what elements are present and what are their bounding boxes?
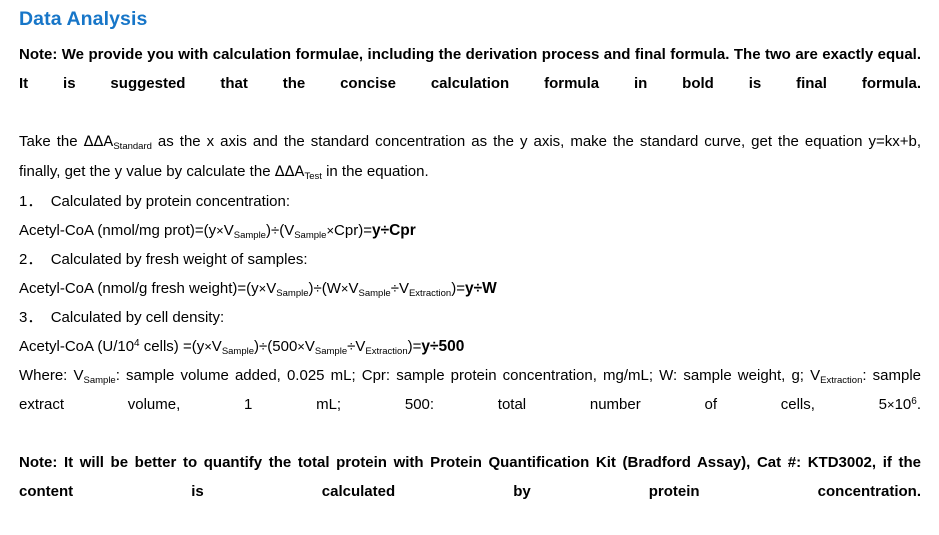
delta-test-subscript: Test	[304, 171, 321, 182]
v-extraction-subscript: Extraction	[365, 346, 407, 357]
formula-fresh-weight: Acetyl-CoA (nmol/g fresh weight)=(y×VSam…	[19, 274, 921, 303]
v-sample-symbol: V	[224, 222, 234, 239]
formula-tail: )=	[408, 338, 422, 355]
list-item-label: Calculated by protein concentration:	[51, 193, 290, 210]
formula-lead: Acetyl-CoA (U/10	[19, 338, 134, 355]
list-item: 1． Calculated by protein concentration:	[19, 187, 921, 216]
formula-lead: Acetyl-CoA (nmol/g fresh weight)=(y	[19, 280, 259, 297]
where-period: .	[917, 396, 921, 413]
cells-base: 10	[895, 396, 912, 413]
multiply-sign: ×	[887, 397, 895, 412]
delta-test-symbol: ΔΔA	[275, 164, 305, 180]
v-sample-symbol: V	[73, 367, 83, 384]
v-extraction-subscript: Extraction	[409, 288, 451, 299]
note-top-paragraph: Note: We provide you with calculation fo…	[19, 40, 921, 127]
instruction-text-part3: in the equation.	[322, 163, 429, 180]
formula-bold-result: y÷W	[465, 280, 497, 297]
document-page: Data Analysis Note: We provide you with …	[0, 0, 939, 438]
v-sample-symbol: V	[212, 338, 222, 355]
list-item: 3． Calculated by cell density:	[19, 303, 921, 332]
formula-bold-result: y÷Cpr	[372, 222, 416, 239]
v-sample-subscript: Sample	[222, 346, 254, 357]
v-sample-symbol: V	[266, 280, 276, 297]
formula-lead-2: cells) =(y	[140, 338, 205, 355]
cells-exponent: 6	[911, 396, 917, 407]
formula-protein-concentration: Acetyl-CoA (nmol/mg prot)=(y×VSample)÷(V…	[19, 216, 921, 245]
multiply-sign: ×	[216, 223, 224, 238]
v-sample-subscript-2: Sample	[294, 230, 326, 241]
instruction-text-part1: Take the	[19, 133, 84, 150]
v-extraction-symbol: V	[399, 280, 409, 297]
v-sample-symbol-2: V	[305, 338, 315, 355]
list-item-marker: 3．	[19, 309, 42, 326]
where-lead: Where:	[19, 367, 73, 384]
where-text-1: : sample volume added, 0.025 mL; Cpr: sa…	[116, 367, 810, 384]
v-extraction-symbol: V	[355, 338, 365, 355]
v-sample-symbol-2: V	[348, 280, 358, 297]
v-sample-subscript: Sample	[84, 375, 116, 386]
formula-mid: )÷(500	[254, 338, 297, 355]
cells-exponent: 4	[134, 338, 140, 349]
v-sample-subscript: Sample	[234, 230, 266, 241]
formula-bold-result: y÷500	[421, 338, 464, 355]
multiply-sign-2: ×	[297, 339, 305, 354]
formula-lead: Acetyl-CoA (nmol/mg prot)=(y	[19, 222, 216, 239]
instruction-paragraph: Take the ΔΔAStandard as the x axis and t…	[19, 127, 921, 187]
formula-mid: )÷(	[266, 222, 284, 239]
v-sample-subscript-2: Sample	[359, 288, 391, 299]
where-definitions-paragraph: Where: VSample: sample volume added, 0.0…	[19, 361, 921, 448]
formula-mid: )÷(W	[309, 280, 341, 297]
delta-standard-symbol: ΔΔA	[84, 134, 114, 150]
formula-tail: Cpr)=	[334, 222, 372, 239]
formula-tail: )=	[451, 280, 465, 297]
list-item-marker: 2．	[19, 251, 42, 268]
delta-standard-subscript: Standard	[113, 141, 152, 152]
note-bottom-text-before: Note: It will be better to quantify the …	[19, 454, 808, 471]
note-bottom-paragraph: Note: It will be better to quantify the …	[19, 448, 921, 535]
v-sample-symbol-2: V	[284, 222, 294, 239]
list-item-label: Calculated by fresh weight of samples:	[51, 251, 308, 268]
v-sample-subscript-2: Sample	[315, 346, 347, 357]
list-item: 2． Calculated by fresh weight of samples…	[19, 245, 921, 274]
multiply-sign-2: ×	[326, 223, 334, 238]
v-sample-subscript: Sample	[276, 288, 308, 299]
v-extraction-subscript: Extraction	[820, 375, 862, 386]
multiply-sign: ×	[204, 339, 212, 354]
formula-cell-density: Acetyl-CoA (U/104 cells) =(y×VSample)÷(5…	[19, 332, 921, 361]
list-item-label: Calculated by cell density:	[51, 309, 224, 326]
instruction-text-part2: as the x axis and the standard concentra…	[19, 133, 921, 180]
page-title: Data Analysis	[19, 6, 921, 32]
catalog-number: KTD3002	[808, 454, 872, 471]
divide-sign-2: ÷	[391, 280, 399, 297]
v-extraction-symbol: V	[810, 367, 820, 384]
list-item-marker: 1．	[19, 193, 42, 210]
